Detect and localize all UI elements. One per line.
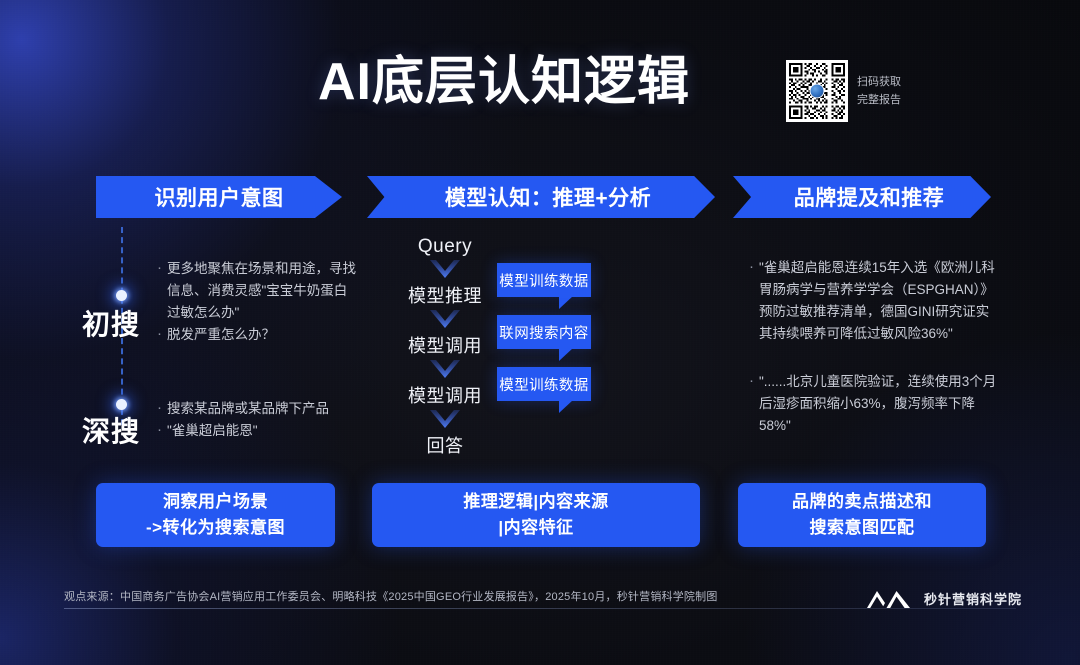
list-item: 脱发严重怎么办？ [157,324,357,346]
brand-name: 秒针营销科学院 [924,589,1022,608]
right-quote-block-1: "雀巢超启能恩连续15年入选《欧洲儿科胃肠病学与营养学学会（ESPGHAN）》预… [748,257,1000,344]
slide-canvas: AI底层认知逻辑 [0,0,1080,665]
timeline-node-dot-2 [116,399,127,410]
footer-source-note: 观点来源：中国商务广告协会AI营销应用工作委员会、明略科技《2025中国GEO行… [64,588,718,604]
summary-box-user-scenario[interactable]: 洞察用户场景 ->转化为搜索意图 [96,483,335,547]
summary-box-brand-selling-point[interactable]: 品牌的卖点描述和 搜索意图匹配 [738,483,986,547]
bubble-tail-icon [559,348,573,361]
bubble-training-data-2[interactable]: 模型训练数据 [497,367,591,401]
stage-banner-identify-intent[interactable]: 识别用户意图 [96,176,342,218]
flow-step-model-call-1: 模型调用 [385,332,505,358]
summary-box-line2: 搜索意图匹配 [810,515,915,541]
list-item: "......北京儿童医院验证，连续使用3个月后湿疹面积缩小63%，腹泻频率下降… [748,371,1000,437]
list-item: 搜索某品牌或某品牌下产品 [157,398,357,420]
left-bullets-deep-search: 搜索某品牌或某品牌下产品 "雀巢超启能恩" [157,398,357,442]
qr-block: 扫码获取 完整报告 [786,60,901,122]
summary-box-line1: 推理逻辑|内容来源 [463,489,608,515]
flow-step-model-call-2: 模型调用 [385,382,505,408]
bubble-web-search[interactable]: 联网搜索内容 [497,315,591,349]
right-quote-block-2: "......北京儿童医院验证，连续使用3个月后湿疹面积缩小63%，腹泻频率下降… [748,371,1000,437]
qr-center-logo-icon [810,84,825,99]
bubble-tail-icon [559,400,573,413]
flow-step-answer: 回答 [385,432,505,458]
double-peak-logo-icon [866,586,912,610]
qr-caption-line2: 完整报告 [857,91,901,109]
list-item: 更多地聚焦在场景和用途，寻找信息、消费灵感"宝宝牛奶蛋白过敏怎么办" [157,258,357,324]
bubble-training-data-1[interactable]: 模型训练数据 [497,263,591,297]
bubble-tail-icon [559,296,573,309]
chevron-down-icon [385,308,505,332]
qr-caption: 扫码获取 完整报告 [857,73,901,109]
stage-banner-brand-mention[interactable]: 品牌提及和推荐 [733,176,991,218]
model-flow: Query 模型推理 模型调用 模型调用 回答 [385,236,505,458]
chevron-down-icon [385,408,505,432]
summary-box-line1: 品牌的卖点描述和 [792,489,932,515]
page-title: AI底层认知逻辑 [318,55,690,110]
list-item: "雀巢超启能恩" [157,420,357,442]
timeline-label-first-search: 初搜 [82,303,140,343]
bubble-label: 模型训练数据 [499,270,588,291]
qr-caption-line1: 扫码获取 [857,73,901,91]
timeline-node-dot-1 [116,290,127,301]
summary-box-reasoning-logic[interactable]: 推理逻辑|内容来源 |内容特征 [372,483,700,547]
summary-box-line2: ->转化为搜索意图 [146,515,285,541]
chevron-down-icon [385,258,505,282]
flow-step-query: Query [385,236,505,258]
brand-block: 秒针营销科学院 [866,586,1022,610]
summary-box-line2: |内容特征 [498,515,573,541]
qr-code-icon[interactable] [786,60,848,122]
stage-banner-model-cognition[interactable]: 模型认知：推理+分析 [367,176,715,218]
left-bullets-first-search: 更多地聚焦在场景和用途，寻找信息、消费灵感"宝宝牛奶蛋白过敏怎么办" 脱发严重怎… [157,258,357,345]
list-item: "雀巢超启能恩连续15年入选《欧洲儿科胃肠病学与营养学学会（ESPGHAN）》预… [748,257,1000,344]
bubble-label: 模型训练数据 [499,374,588,395]
bubble-label: 联网搜索内容 [499,322,588,343]
chevron-down-icon [385,358,505,382]
flow-step-model-reasoning: 模型推理 [385,282,505,308]
timeline-label-deep-search: 深搜 [82,410,140,450]
summary-box-line1: 洞察用户场景 [163,489,268,515]
